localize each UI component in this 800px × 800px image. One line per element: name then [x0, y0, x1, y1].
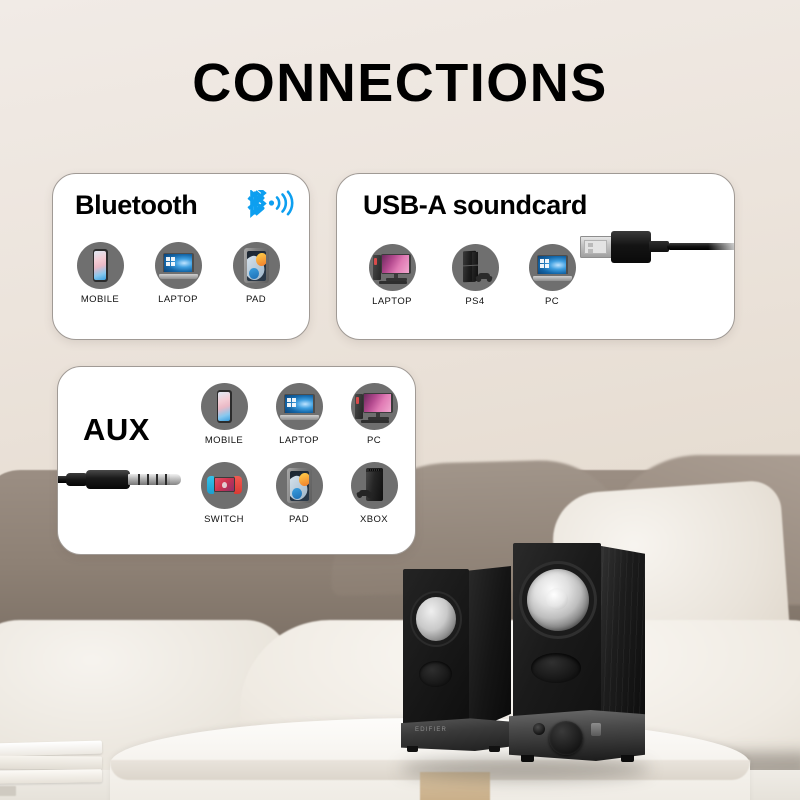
device-label: PC — [345, 435, 403, 446]
usb-contact-tongue — [584, 240, 607, 254]
laptop-icon — [276, 383, 323, 430]
device-chip-pc[interactable]: PC — [519, 244, 585, 307]
desktop-pc-icon — [369, 244, 416, 291]
book — [0, 741, 102, 757]
xbox-console-icon — [351, 462, 398, 509]
right-speaker-bass-port — [531, 653, 581, 683]
volume-knob[interactable] — [549, 721, 583, 755]
tablet-icon — [233, 242, 280, 289]
device-chip-pad[interactable]: PAD — [270, 462, 328, 525]
device-label: SWITCH — [195, 514, 253, 525]
device-label: MOBILE — [195, 435, 253, 446]
book-bookmark — [0, 786, 16, 796]
right-speaker — [513, 543, 641, 771]
book-stack — [0, 742, 105, 800]
nintendo-switch-icon — [201, 462, 248, 509]
usb-cable — [667, 243, 735, 250]
connection-card-usb-a-soundcard: USB-A soundcard LAPTOP PS4 — [336, 173, 735, 340]
aux-plug-barrel — [86, 470, 130, 489]
page-title: CONNECTIONS — [0, 52, 800, 114]
bluetooth-icon — [242, 190, 304, 222]
device-chip-laptop[interactable]: LAPTOP — [149, 242, 207, 305]
right-speaker-dome — [546, 588, 568, 610]
device-chip-switch[interactable]: SWITCH — [195, 462, 253, 525]
left-speaker-front-panel — [403, 569, 469, 737]
left-speaker-foot — [489, 746, 500, 752]
infographic-scene: EDIFIER CONNECTIONS Bluetooth — [0, 0, 800, 800]
connection-card-bluetooth: Bluetooth MOBILE — [52, 173, 310, 340]
device-chip-pad[interactable]: PAD — [227, 242, 285, 305]
device-label: LAPTOP — [359, 296, 425, 307]
device-label: LAPTOP — [149, 294, 207, 305]
usb-strain-relief — [649, 241, 669, 252]
brand-logo: EDIFIER — [415, 727, 447, 733]
left-speaker: EDIFIER — [403, 569, 508, 749]
device-label: XBOX — [345, 514, 403, 525]
device-label: PS4 — [442, 296, 508, 307]
device-chip-laptop[interactable]: LAPTOP — [359, 244, 425, 307]
card-heading-aux: AUX — [83, 412, 150, 448]
aux-35mm-jack-icon — [57, 467, 198, 491]
laptop-icon — [529, 244, 576, 291]
laptop-icon — [155, 242, 202, 289]
device-label: MOBILE — [71, 294, 129, 305]
tablet-icon — [276, 462, 323, 509]
book — [0, 769, 102, 784]
left-speaker-driver — [416, 597, 456, 641]
device-chip-mobile[interactable]: MOBILE — [195, 383, 253, 446]
left-speaker-cabinet-side — [465, 566, 511, 734]
device-chip-ps4[interactable]: PS4 — [442, 244, 508, 307]
input-switch-button[interactable] — [591, 723, 601, 736]
card-heading-usb: USB-A soundcard — [363, 190, 587, 221]
card-heading-bluetooth: Bluetooth — [75, 190, 197, 221]
usb-housing — [611, 231, 651, 263]
right-speaker-foot — [621, 755, 634, 762]
device-label: PAD — [227, 294, 285, 305]
smartphone-icon — [77, 242, 124, 289]
device-chip-laptop[interactable]: LAPTOP — [270, 383, 328, 446]
desktop-pc-icon — [351, 383, 398, 430]
device-chip-xbox[interactable]: XBOX — [345, 462, 403, 525]
device-chip-pc[interactable]: PC — [345, 383, 403, 446]
smartphone-icon — [201, 383, 248, 430]
aux-strain-relief — [66, 473, 88, 486]
aux-plug-tip — [170, 474, 181, 485]
usb-a-plug-icon — [580, 230, 735, 264]
left-speaker-bass-port — [419, 661, 452, 687]
playstation-console-icon — [452, 244, 499, 291]
right-speaker-foot — [521, 755, 534, 762]
speaker-pair: EDIFIER — [395, 543, 645, 773]
headphone-jack[interactable] — [533, 723, 545, 735]
book — [0, 756, 102, 770]
left-speaker-foot — [407, 746, 418, 752]
device-label: PAD — [270, 514, 328, 525]
device-chip-mobile[interactable]: MOBILE — [71, 242, 129, 305]
connection-card-aux: AUX MOBILE LAPTOP — [57, 366, 416, 555]
device-label: LAPTOP — [270, 435, 328, 446]
device-label: PC — [519, 296, 585, 307]
